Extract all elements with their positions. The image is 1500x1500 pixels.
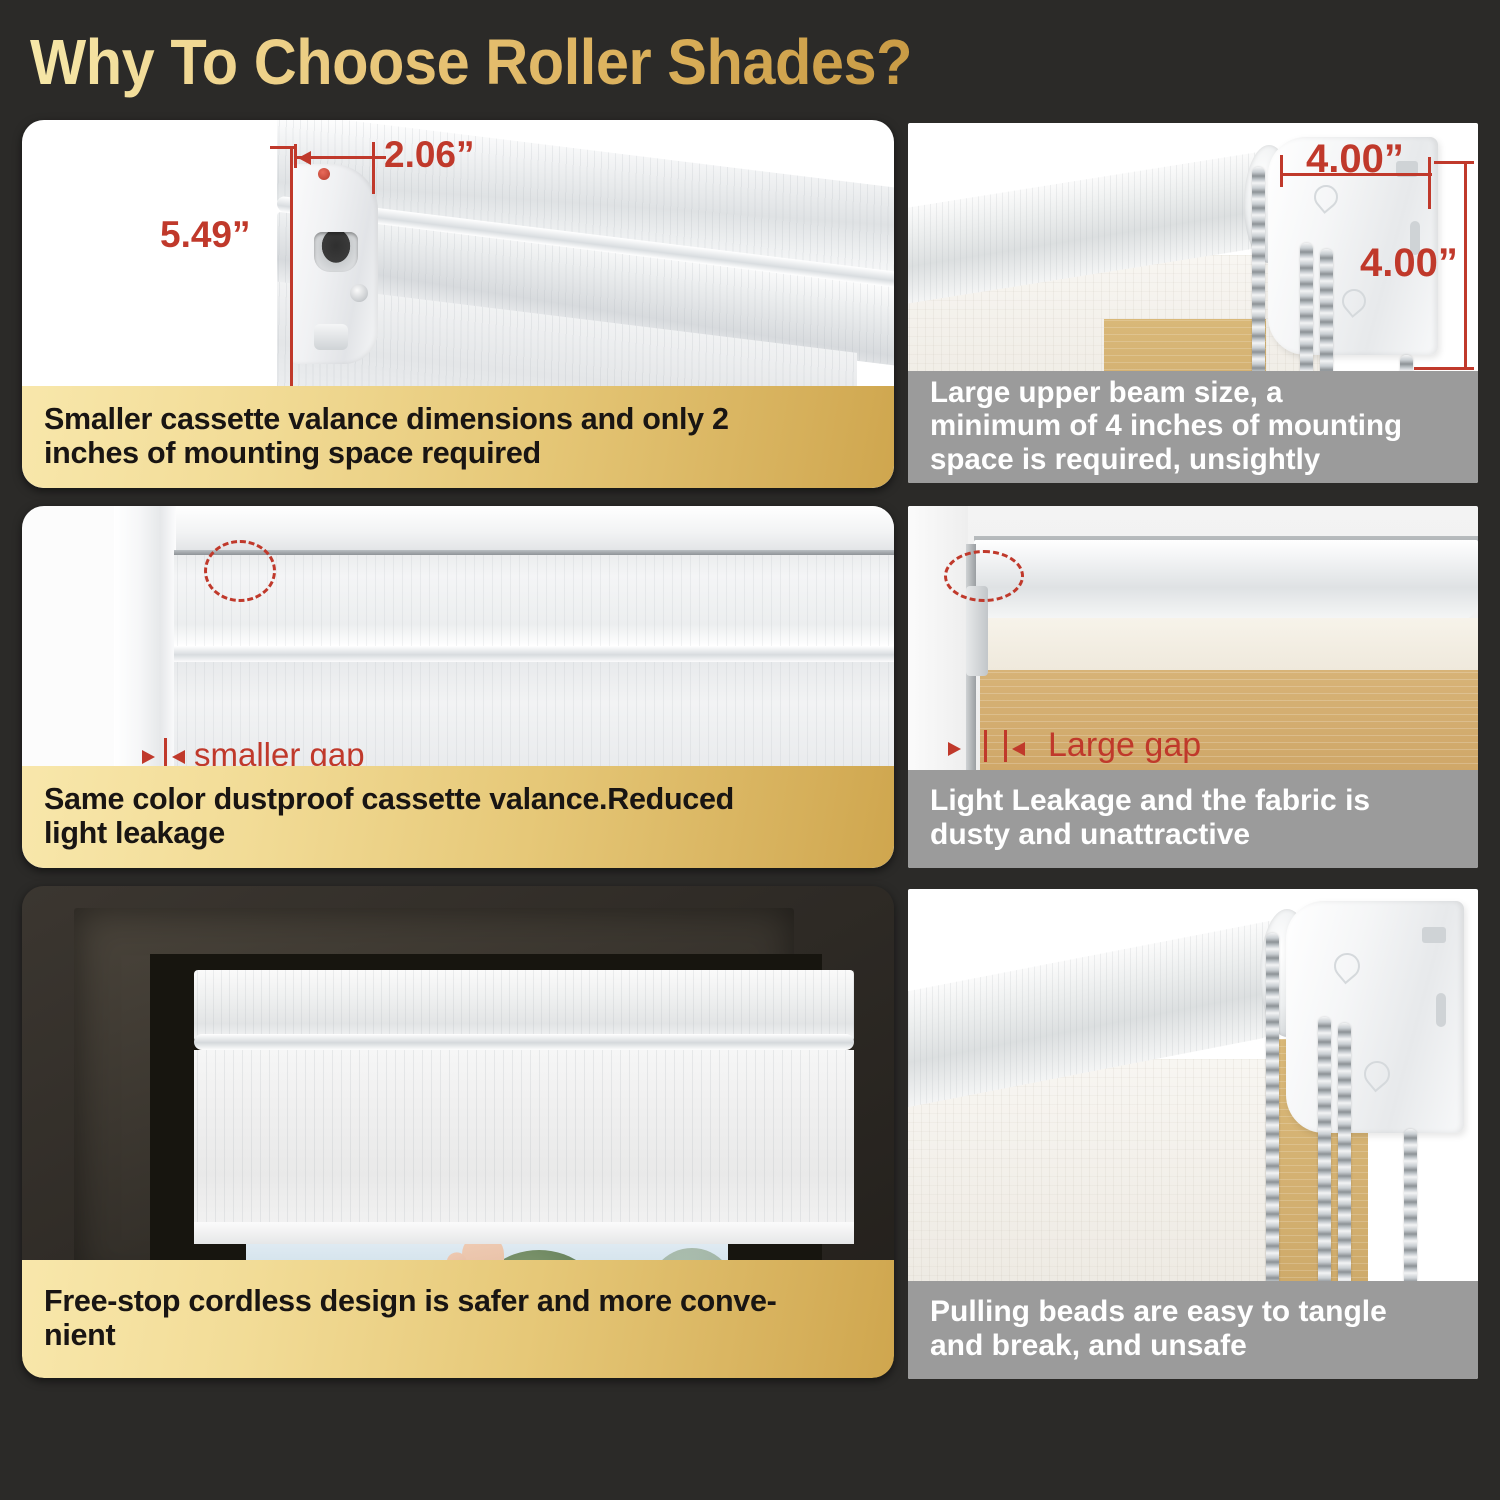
caption-pro-row1: Smaller cassette valance dimensions and …	[22, 386, 894, 488]
fabric-cream-band	[980, 618, 1478, 670]
caption-con-row1: Large upper beam size, a minimum of 4 in…	[908, 371, 1478, 483]
gap-arrow-left	[142, 750, 155, 764]
mounting-bracket	[1286, 901, 1464, 1133]
caption-line: Same color dustproof cassette valance.Re…	[44, 782, 874, 816]
window-opening	[150, 954, 822, 1288]
gap-arrow-left	[948, 742, 961, 756]
caption-line: Free-stop cordless design is safer and m…	[44, 1284, 874, 1318]
shade-mid-rail	[174, 646, 894, 662]
width-dimension-label: 2.06”	[384, 134, 475, 176]
caption-con-row3: Pulling beads are easy to tangle and bre…	[908, 1281, 1478, 1379]
caption-line: Pulling beads are easy to tangle	[930, 1295, 1458, 1329]
gap-tick-b	[1004, 730, 1007, 762]
cassette-head-rail	[194, 970, 854, 1042]
gap-tick	[164, 738, 167, 768]
width-dim-tick-right	[372, 142, 375, 194]
beam-width-tick-right	[1428, 157, 1431, 209]
roller-tube	[974, 540, 1478, 622]
caption-pro-row2: Same color dustproof cassette valance.Re…	[22, 766, 894, 868]
end-cap-screw	[350, 284, 368, 302]
beam-width-tick-left	[1280, 155, 1283, 187]
panel-pro-row1[interactable]: 2.06” 5.49” Smaller cassette valance dim…	[22, 120, 894, 488]
end-cap-rivet	[318, 168, 330, 180]
caption-con-row2: Light Leakage and the fabric is dusty an…	[908, 770, 1478, 868]
gap-callout-label: Large gap	[1048, 726, 1201, 765]
window-frame	[74, 908, 794, 1288]
gap-arrow-right	[172, 750, 185, 764]
beam-height-tick-bottom	[1414, 367, 1474, 370]
caption-line: Light Leakage and the fabric is	[930, 784, 1458, 818]
height-dim-tick-top	[270, 146, 296, 149]
shade-fabric	[194, 1050, 854, 1228]
panel-con-row3[interactable]: Pulling beads are easy to tangle and bre…	[908, 889, 1478, 1379]
cassette-lip	[194, 1034, 854, 1050]
gap-arrow-right	[1012, 742, 1025, 756]
panel-con-row1[interactable]: 4.00” 4.00” Large upper beam size, a min…	[908, 123, 1478, 483]
width-dim-arrow-left	[298, 151, 311, 165]
gap-tick-a	[984, 730, 987, 762]
window-frame-side	[114, 506, 176, 768]
end-cap-slot	[314, 232, 358, 272]
highlight-circle	[204, 540, 276, 602]
caption-line: inches of mounting space required	[44, 436, 874, 470]
beam-height-label: 4.00”	[1360, 241, 1458, 286]
panel-pro-row3[interactable]: Free-stop cordless design is safer and m…	[22, 886, 894, 1378]
caption-line: Large upper beam size, a	[930, 376, 1458, 409]
comparison-grid: 2.06” 5.49” Smaller cassette valance dim…	[0, 0, 1500, 1500]
panel-pro-row2[interactable]: smaller gap Same color dustproof cassett…	[22, 506, 894, 868]
beam-height-line	[1464, 161, 1467, 369]
caption-line: and break, and unsafe	[930, 1329, 1458, 1363]
caption-pro-row3: Free-stop cordless design is safer and m…	[22, 1260, 894, 1378]
caption-line: nient	[44, 1318, 874, 1352]
caption-line: space is required, unsightly	[930, 443, 1458, 476]
height-dimension-label: 5.49”	[160, 214, 251, 256]
valance-end-cap	[290, 164, 378, 364]
shade-top-edge	[174, 550, 894, 555]
caption-line: light leakage	[44, 816, 874, 850]
beam-width-label: 4.00”	[1306, 137, 1404, 182]
caption-line: dusty and unattractive	[930, 818, 1458, 852]
caption-line: Smaller cassette valance dimensions and …	[44, 402, 874, 436]
beam-height-tick-top	[1434, 161, 1474, 164]
highlight-circle	[944, 550, 1024, 602]
caption-line: minimum of 4 inches of mounting	[930, 409, 1458, 442]
panel-con-row2[interactable]: Large gap Light Leakage and the fabric i…	[908, 506, 1478, 868]
end-cap-clip	[314, 324, 348, 350]
shade-bottom-rail	[194, 1222, 854, 1244]
